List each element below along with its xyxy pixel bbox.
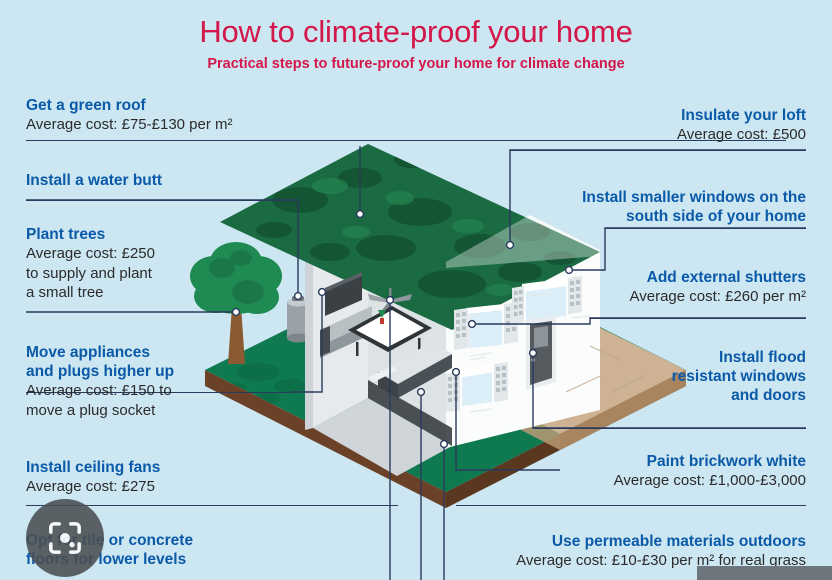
- callout-ceiling-fans-head: Install ceiling fans: [26, 458, 160, 477]
- bottom-toolbar-strip[interactable]: [697, 566, 832, 580]
- callout-flood-windows-head: Install flood resistant windows and door…: [506, 348, 806, 405]
- rule-insulate-loft: [510, 150, 806, 151]
- callout-green-roof-cost: Average cost: £75-£130 per m²: [26, 115, 233, 135]
- callout-plant-trees-head: Plant trees: [26, 225, 155, 244]
- callout-ceiling-fans-cost: Average cost: £275: [26, 477, 160, 497]
- callout-insulate-loft-cost: Average cost: £500: [386, 125, 806, 145]
- callout-move-appliances: Move appliances and plugs higher up Aver…: [26, 343, 174, 420]
- rule-smaller-windows: [605, 228, 806, 229]
- rule-water-butt: [26, 200, 299, 201]
- callout-permeable-head: Use permeable materials outdoors: [246, 532, 806, 551]
- rule-shutters: [590, 318, 806, 319]
- callout-move-appliances-head: Move appliances and plugs higher up: [26, 343, 174, 381]
- callout-green-roof: Get a green roof Average cost: £75-£130 …: [26, 96, 233, 135]
- callout-paint-brickwork-head: Paint brickwork white: [386, 452, 806, 471]
- page-subtitle: Practical steps to future-proof your hom…: [0, 56, 832, 72]
- callout-ceiling-fans: Install ceiling fans Average cost: £275: [26, 458, 160, 497]
- callout-water-butt-head: Install a water butt: [26, 171, 162, 190]
- callout-plant-trees: Plant trees Average cost: £250 to supply…: [26, 225, 155, 303]
- rule-flood: [533, 428, 806, 429]
- callout-flood-windows: Install flood resistant windows and door…: [506, 348, 806, 405]
- infographic-root: How to climate-proof your home Practical…: [0, 0, 832, 580]
- callout-external-shutters: Add external shutters Average cost: £260…: [386, 268, 806, 307]
- callout-green-roof-head: Get a green roof: [26, 96, 233, 115]
- callout-external-shutters-head: Add external shutters: [386, 268, 806, 287]
- rule-paint: [456, 505, 806, 506]
- lens-capture-button[interactable]: [26, 499, 104, 577]
- callout-external-shutters-cost: Average cost: £260 per m²: [386, 287, 806, 307]
- callout-insulate-loft-head: Insulate your loft: [386, 106, 806, 125]
- callout-paint-brickwork: Paint brickwork white Average cost: £1,0…: [386, 452, 806, 491]
- callout-smaller-windows: Install smaller windows on the south sid…: [386, 188, 806, 226]
- callout-water-butt: Install a water butt: [26, 171, 162, 190]
- callout-move-appliances-cost: Average cost: £150 to move a plug socket: [26, 381, 174, 420]
- callout-smaller-windows-head: Install smaller windows on the south sid…: [386, 188, 806, 226]
- callout-paint-brickwork-cost: Average cost: £1,000-£3,000: [386, 471, 806, 491]
- page-title: How to climate-proof your home: [0, 14, 832, 50]
- callout-permeable: Use permeable materials outdoors Average…: [246, 532, 806, 571]
- callout-plant-trees-cost: Average cost: £250 to supply and plant a…: [26, 244, 155, 303]
- lens-focus-icon: [45, 518, 85, 558]
- callout-insulate-loft: Insulate your loft Average cost: £500: [386, 106, 806, 145]
